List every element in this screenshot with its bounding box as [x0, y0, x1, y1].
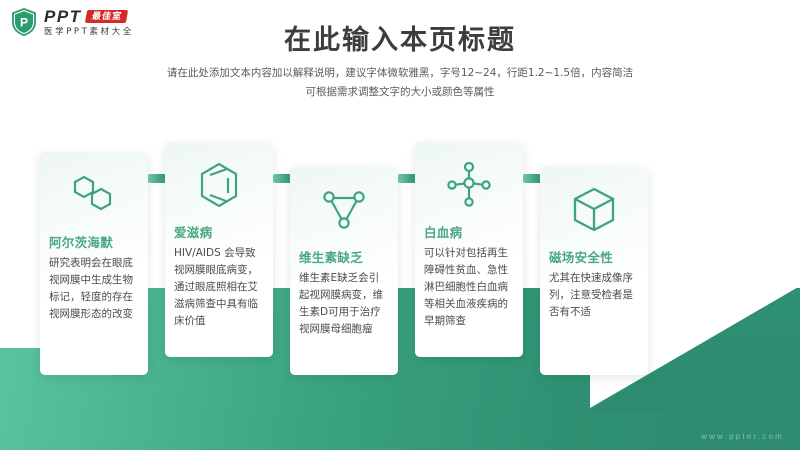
card-body: 尤其在快速成像序列，注意受检者是否有不适 — [549, 270, 639, 321]
card-row: 阿尔茨海默 研究表明会在眼底视网膜中生成生物标记，轻度的存在视网膜形态的改变 爱… — [0, 0, 800, 450]
card-leukemia[interactable]: 白血病 可以针对包括再生障碍性贫血、急性淋巴细胞性白血病等相关血液疾病的早期筛查 — [415, 142, 523, 357]
card-title: 阿尔茨海默 — [49, 232, 139, 251]
card-body: 维生素E缺乏会引起视网膜病变，维生素D可用于治疗视网膜母细胞瘤 — [299, 270, 389, 338]
triangle-nodes-icon — [299, 167, 389, 241]
cube-3d-icon — [549, 167, 639, 241]
card-vitamin-deficiency[interactable]: 维生素缺乏 维生素E缺乏会引起视网膜病变，维生素D可用于治疗视网膜母细胞瘤 — [290, 167, 398, 375]
card-magnetic-safety[interactable]: 磁场安全性 尤其在快速成像序列，注意受检者是否有不适 — [540, 167, 648, 375]
card-body: 可以针对包括再生障碍性贫血、急性淋巴细胞性白血病等相关血液疾病的早期筛查 — [424, 245, 514, 330]
benzene-hexagon-icon — [174, 142, 264, 216]
card-title: 磁场安全性 — [549, 247, 639, 266]
card-alzheimer[interactable]: 阿尔茨海默 研究表明会在眼底视网膜中生成生物标记，轻度的存在视网膜形态的改变 — [40, 152, 148, 375]
branching-nodes-icon — [424, 142, 514, 216]
molecule-hexagons-icon — [49, 152, 139, 226]
card-title: 维生素缺乏 — [299, 247, 389, 266]
card-title: 白血病 — [424, 222, 514, 241]
card-title: 爱滋病 — [174, 222, 264, 241]
card-body: 研究表明会在眼底视网膜中生成生物标记，轻度的存在视网膜形态的改变 — [49, 255, 139, 323]
card-body: HIV/AIDS 会导致视网膜眼底病变，通过眼底照相在艾滋病筛查中具有临床价值 — [174, 245, 264, 330]
site-watermark: www.ppter.com — [701, 432, 784, 441]
card-aids[interactable]: 爱滋病 HIV/AIDS 会导致视网膜眼底病变，通过眼底照相在艾滋病筛查中具有临… — [165, 142, 273, 357]
